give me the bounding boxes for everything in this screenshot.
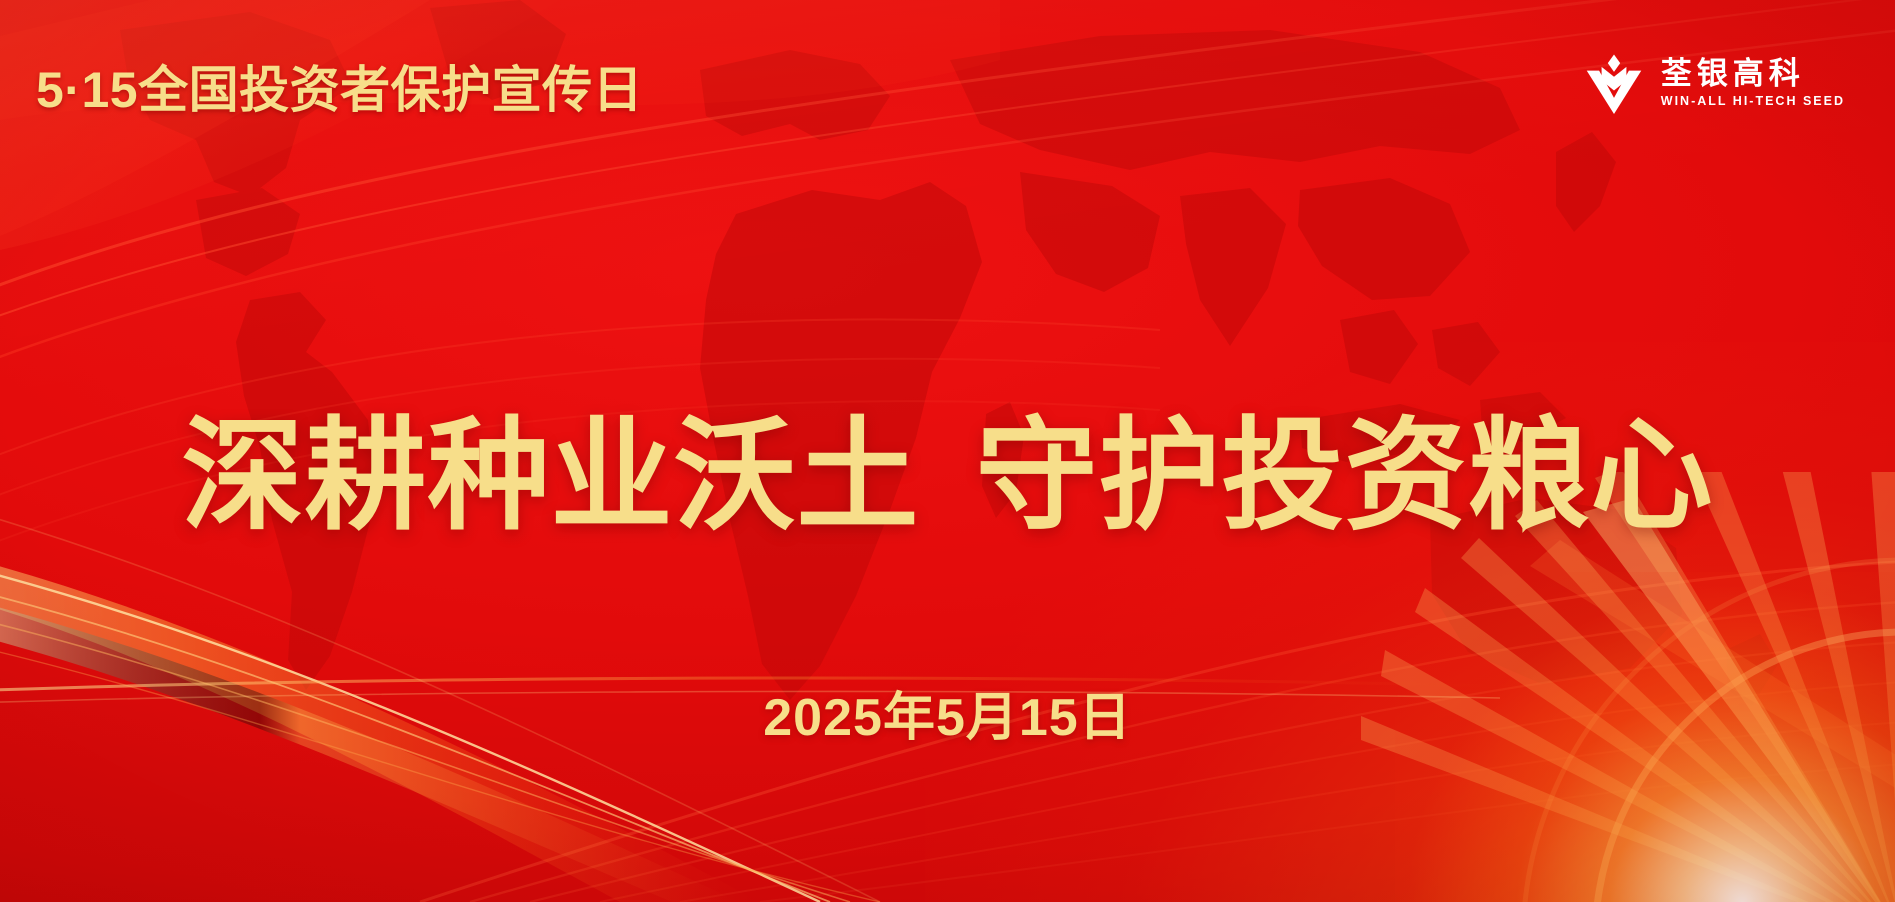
campaign-kicker: 5·15全国投资者保护宣传日	[36, 50, 643, 122]
logo-text-block: 荃银高科 WIN-ALL HI-TECH SEED	[1661, 58, 1845, 109]
company-logo: 荃银高科 WIN-ALL HI-TECH SEED	[1583, 52, 1845, 114]
headline-part-2: 守护投资粮心	[976, 408, 1714, 544]
logo-company-name-cn: 荃银高科	[1661, 58, 1845, 91]
headline-part-1: 深耕种业沃土	[182, 408, 920, 544]
event-date: 2025年5月15日	[0, 675, 1895, 750]
banner-content: 5·15全国投资者保护宣传日 荃银高科 WIN-ALL HI-TECH SEED…	[0, 0, 1895, 902]
main-headline: 深耕种业沃土守护投资粮心	[0, 415, 1895, 537]
logo-company-name-en: WIN-ALL HI-TECH SEED	[1661, 94, 1845, 108]
wheat-chevron-icon	[1583, 52, 1645, 114]
investor-protection-banner: 5·15全国投资者保护宣传日 荃银高科 WIN-ALL HI-TECH SEED…	[0, 0, 1895, 902]
